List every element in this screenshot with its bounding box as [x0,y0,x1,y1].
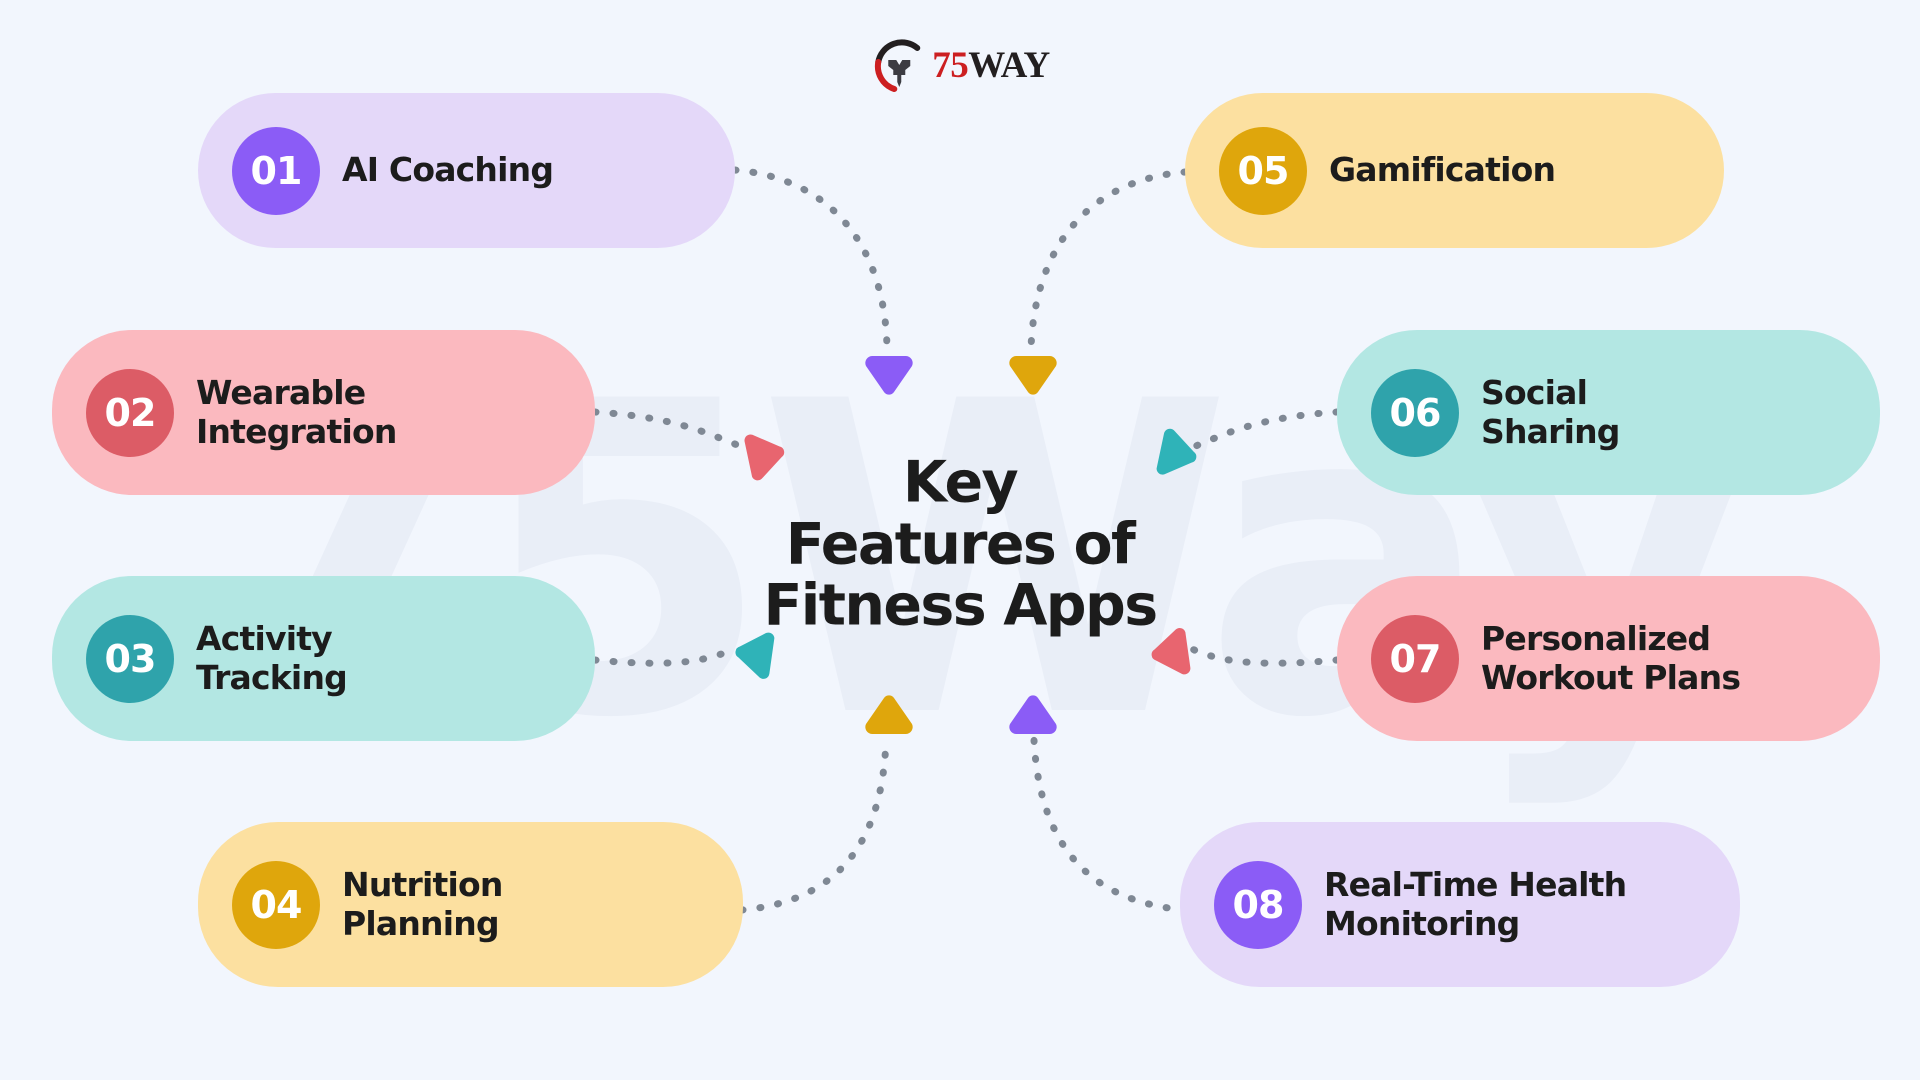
feature-card-03[interactable]: 03 Activity Tracking [52,576,595,741]
brand-wordmark: 75WAY [932,47,1049,84]
feature-number-badge-04: 04 [232,861,320,949]
feature-label-05: Gamification [1329,151,1555,190]
feature-number-badge-02: 02 [86,369,174,457]
feature-number-badge-08: 08 [1214,861,1302,949]
feature-label-08: Real-Time Health Monitoring [1324,866,1626,944]
feature-label-04: Nutrition Planning [342,866,503,944]
brand-logo: 75WAY [870,36,1049,94]
feature-number-badge-06: 06 [1371,369,1459,457]
feature-number-badge-07: 07 [1371,615,1459,703]
feature-card-01[interactable]: 01 AI Coaching [198,93,735,248]
brand-word: WAY [968,45,1049,86]
feature-number-badge-05: 05 [1219,127,1307,215]
feature-number-badge-03: 03 [86,615,174,703]
brand-number: 75 [932,45,968,86]
page-title: Key Features of Fitness Apps [725,453,1195,638]
feature-label-01: AI Coaching [342,151,553,190]
feature-number-badge-01: 01 [232,127,320,215]
feature-card-04[interactable]: 04 Nutrition Planning [198,822,743,987]
feature-card-08[interactable]: 08 Real-Time Health Monitoring [1180,822,1740,987]
feature-card-05[interactable]: 05 Gamification [1185,93,1724,248]
feature-label-02: Wearable Integration [196,374,397,452]
feature-card-02[interactable]: 02 Wearable Integration [52,330,595,495]
feature-label-03: Activity Tracking [196,620,347,698]
feature-label-06: Social Sharing [1481,374,1620,452]
feature-label-07: Personalized Workout Plans [1481,620,1740,698]
feature-card-07[interactable]: 07 Personalized Workout Plans [1337,576,1880,741]
75way-swoosh-icon [870,36,928,94]
infographic-canvas: 75Way 75WAY [0,0,1920,1080]
feature-card-06[interactable]: 06 Social Sharing [1337,330,1880,495]
